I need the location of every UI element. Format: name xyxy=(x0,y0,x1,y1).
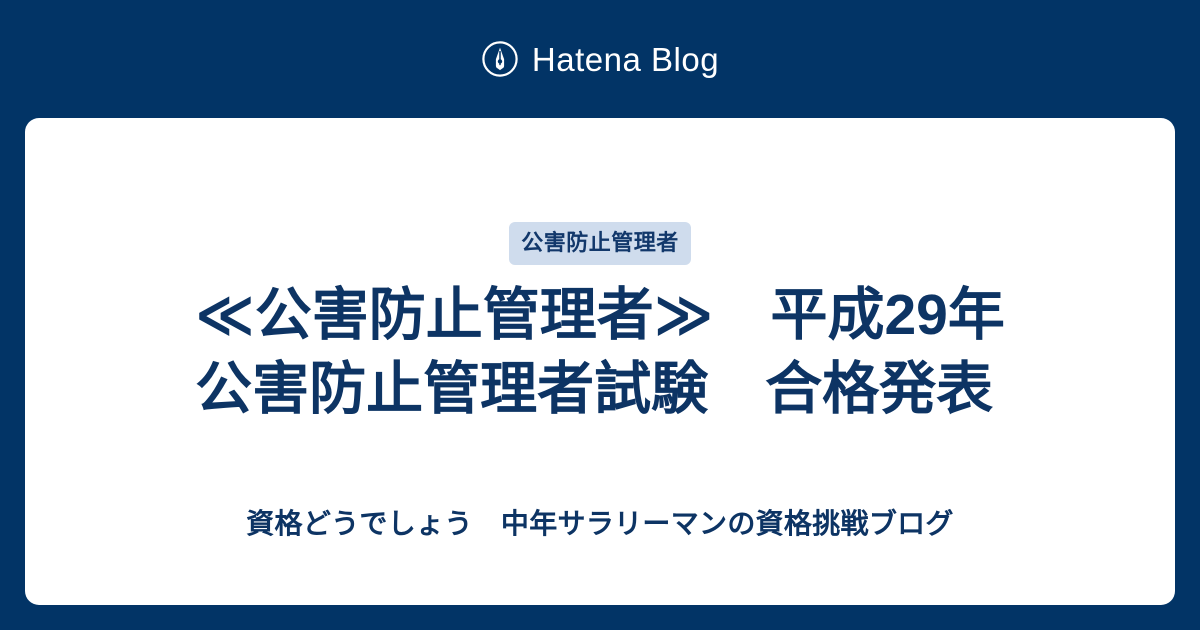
hatena-pen-nib-icon xyxy=(481,40,519,78)
og-image-canvas: Hatena Blog 公害防止管理者 ≪公害防止管理者≫ 平成29年 公害防止… xyxy=(0,0,1200,630)
entry-title-block: ≪公害防止管理者≫ 平成29年 公害防止管理者試験 合格発表 xyxy=(195,278,1005,426)
brand-name-label: Hatena Blog xyxy=(532,43,719,76)
entry-title-line-1: ≪公害防止管理者≫ 平成29年 xyxy=(195,278,1005,352)
category-row: 公害防止管理者 xyxy=(25,222,1175,265)
entry-card: 公害防止管理者 ≪公害防止管理者≫ 平成29年 公害防止管理者試験 合格発表 資… xyxy=(25,118,1175,605)
entry-card-inner: 公害防止管理者 ≪公害防止管理者≫ 平成29年 公害防止管理者試験 合格発表 資… xyxy=(25,118,1175,605)
entry-title-line-2: 公害防止管理者試験 合格発表 xyxy=(195,352,1005,426)
category-badge[interactable]: 公害防止管理者 xyxy=(509,222,691,265)
entry-title: ≪公害防止管理者≫ 平成29年 公害防止管理者試験 合格発表 xyxy=(25,278,1175,426)
hatena-blog-brand-header: Hatena Blog xyxy=(0,0,1200,118)
blog-name-label: 資格どうでしょう 中年サラリーマンの資格挑戦ブログ xyxy=(25,507,1175,541)
